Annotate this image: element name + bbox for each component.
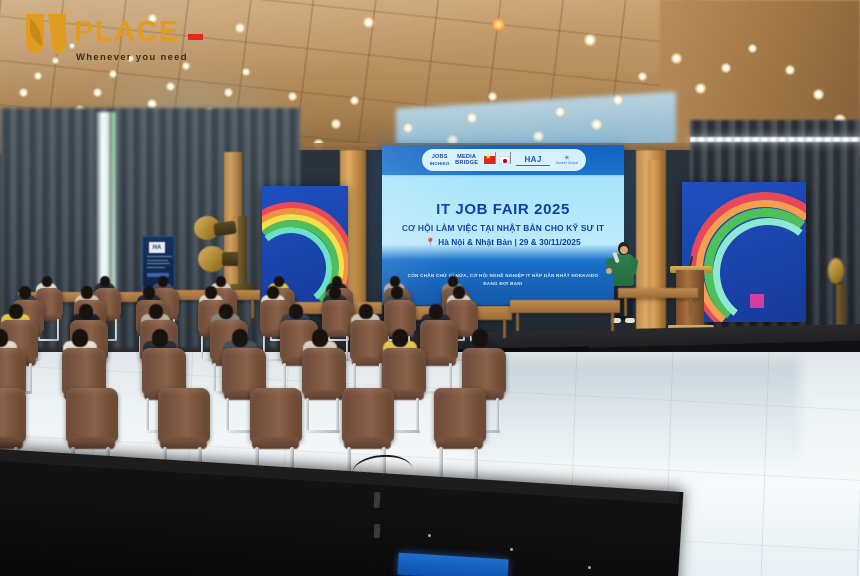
downlight-44 bbox=[695, 83, 706, 94]
chair-backrest bbox=[342, 388, 394, 442]
downlight-14 bbox=[166, 82, 175, 91]
audience-member-head bbox=[158, 276, 168, 287]
audience-chair[interactable] bbox=[434, 388, 486, 442]
chair-backrest bbox=[66, 388, 118, 442]
poster-text-lines bbox=[147, 256, 172, 270]
chair-backrest bbox=[158, 388, 210, 442]
wood-pillar-right-edge bbox=[648, 160, 664, 340]
slide-footer-text: CÒN CHẦN CHỪ GÌ NỮA, CƠ HỘI NGHỀ NGHIỆP … bbox=[401, 272, 606, 288]
downlight-8 bbox=[93, 88, 102, 97]
downlight-38 bbox=[591, 119, 602, 130]
chair-leg-rear bbox=[29, 363, 32, 392]
slide-location-text: Hà Nội & Nhật Bản | 29 & 30/11/2025 bbox=[438, 237, 580, 247]
slide-bottom-band: CÒN CHẦN CHỪ GÌ NỮA, CƠ HỘI NGHỀ NGHIỆP … bbox=[382, 263, 624, 305]
audience-member-head bbox=[152, 329, 168, 347]
camera-rig-hinge-upper bbox=[374, 492, 381, 508]
audience-member-head bbox=[9, 304, 23, 319]
audience-member-head bbox=[312, 329, 328, 347]
audience-chair[interactable] bbox=[66, 388, 118, 442]
vietnam-flag-icon bbox=[484, 151, 496, 169]
downlight-45 bbox=[721, 63, 731, 73]
audience-member-head bbox=[289, 304, 303, 319]
presenter-hand bbox=[606, 268, 612, 274]
audience-member-head bbox=[429, 304, 443, 319]
audience-member-head bbox=[205, 286, 217, 299]
conference-hall-photo: JOBS INCHIKO MEDIA BRIDGE HAJ ☀ Sunset G… bbox=[0, 0, 860, 576]
chair-leg-front bbox=[201, 336, 203, 360]
downlight-24 bbox=[288, 92, 297, 101]
downlight-48 bbox=[813, 89, 824, 100]
location-pin-icon: 📍 bbox=[425, 237, 435, 247]
poster-logo: HA bbox=[149, 242, 165, 253]
chair-backrest bbox=[434, 388, 486, 442]
chair-leg-rear bbox=[57, 319, 59, 340]
vplace-watermark: PLACE Whenever you need bbox=[22, 12, 222, 68]
horn-right-mouth bbox=[828, 258, 844, 284]
audience-member-head bbox=[72, 329, 88, 347]
watermark-red-accent bbox=[188, 34, 203, 40]
downlight-50 bbox=[363, 17, 374, 28]
chair-leg-rear bbox=[115, 319, 117, 340]
camera-rig-hinge-lower bbox=[374, 524, 381, 538]
head-table-front-right bbox=[510, 300, 620, 313]
head-table-front-right-leg-r bbox=[611, 313, 614, 331]
horn-mount-post bbox=[238, 216, 247, 286]
chair-leg-front bbox=[146, 398, 149, 432]
audience-member-head bbox=[81, 286, 93, 299]
chair-leg-rear bbox=[496, 398, 499, 432]
floor-reflection bbox=[470, 360, 800, 470]
downlight-39 bbox=[613, 95, 623, 105]
sunset-wordmark: Sunset Global bbox=[556, 162, 579, 165]
chair-backrest bbox=[302, 348, 346, 394]
partner-logo-haj: HAJ bbox=[516, 155, 550, 166]
chair-leg-front bbox=[213, 363, 216, 392]
downlight-31 bbox=[403, 123, 413, 133]
chair-leg-rear bbox=[346, 336, 348, 360]
head-table-right bbox=[618, 288, 698, 298]
chair-backrest bbox=[0, 388, 26, 442]
audience-member-head bbox=[219, 304, 233, 319]
audience-member-head bbox=[392, 329, 408, 347]
window-light-gap bbox=[96, 112, 112, 302]
downlight-40 bbox=[638, 72, 647, 81]
camera-rig-indicator-2 bbox=[510, 548, 513, 551]
presenter-face bbox=[620, 246, 628, 254]
head-table-center-left-leg-r bbox=[251, 300, 254, 318]
chair-leg-rear bbox=[336, 398, 339, 432]
downlight-33 bbox=[467, 113, 477, 123]
camera-rig-indicator-3 bbox=[588, 566, 591, 569]
audience-member-head bbox=[329, 286, 341, 299]
chair-leg-rail bbox=[306, 430, 340, 433]
head-table-front-right-leg-l bbox=[516, 313, 519, 331]
presenter-shoe-right bbox=[625, 318, 635, 323]
audience-chair[interactable] bbox=[158, 388, 210, 442]
downlight-46 bbox=[748, 44, 757, 53]
audience-member-head bbox=[42, 276, 52, 287]
partner-jobs-line2: INCHIKO bbox=[430, 161, 450, 166]
downlight-47 bbox=[785, 65, 795, 75]
downlight-43 bbox=[671, 53, 682, 64]
haj-rule bbox=[516, 165, 550, 166]
haj-wordmark: HAJ bbox=[516, 155, 550, 164]
audience-member-head bbox=[453, 286, 465, 299]
led-strip-light bbox=[690, 137, 860, 142]
japan-flag-icon bbox=[499, 151, 511, 169]
head-table-right-leg-l bbox=[624, 298, 627, 316]
downlight-41 bbox=[492, 18, 505, 31]
watermark-brand: PLACE bbox=[74, 18, 180, 47]
audience-member-head bbox=[274, 276, 284, 287]
head-table-right-leg-r bbox=[689, 298, 692, 316]
audience-member-head bbox=[391, 286, 403, 299]
camera-rig-indicator-1 bbox=[428, 534, 431, 537]
partner-mb-line2: BRIDGE bbox=[455, 160, 478, 166]
slide-title: IT JOB FAIR 2025 bbox=[382, 201, 624, 218]
presentation-screen: JOBS INCHIKO MEDIA BRIDGE HAJ ☀ Sunset G… bbox=[382, 145, 624, 305]
partner-logo-sunset: ☀ Sunset Global bbox=[556, 155, 579, 165]
audience-member-head bbox=[232, 329, 248, 347]
audience-member-head bbox=[472, 329, 488, 347]
partner-logo-mediabridge: MEDIA BRIDGE bbox=[455, 154, 478, 167]
audience-member-head bbox=[100, 276, 110, 287]
audience-chair[interactable] bbox=[0, 388, 26, 442]
v-logo-mark-icon bbox=[22, 12, 74, 56]
chair-leg-rear bbox=[416, 398, 419, 432]
partner-flags bbox=[484, 151, 511, 169]
downlight-19 bbox=[224, 88, 233, 97]
chair-leg-front bbox=[306, 398, 309, 432]
audience-member-head bbox=[359, 304, 373, 319]
downlight-3 bbox=[34, 72, 42, 80]
downlight-27 bbox=[331, 119, 341, 129]
watermark-tagline: Whenever you need bbox=[76, 52, 188, 63]
downlight-9 bbox=[109, 70, 117, 78]
audience-member-head bbox=[149, 304, 163, 319]
audience-chair[interactable] bbox=[250, 388, 302, 442]
downlight-34 bbox=[488, 92, 497, 101]
downlight-28 bbox=[350, 96, 359, 105]
downlight-42 bbox=[584, 34, 596, 46]
downlight-36 bbox=[533, 131, 544, 142]
downlight-2 bbox=[19, 88, 28, 97]
downlight-51 bbox=[235, 23, 245, 33]
partner-logo-row: JOBS INCHIKO MEDIA BRIDGE HAJ ☀ Sunset G… bbox=[422, 149, 586, 171]
audience-member-head bbox=[216, 276, 226, 287]
head-table-front-center-leg-r bbox=[503, 320, 506, 338]
pink-square-right bbox=[750, 294, 764, 308]
audience-member-head bbox=[19, 286, 31, 299]
audience-chair[interactable] bbox=[342, 388, 394, 442]
chair-backrest bbox=[250, 388, 302, 442]
chair-leg-rail bbox=[38, 339, 59, 341]
downlight-37 bbox=[555, 107, 565, 117]
audience-member-head bbox=[143, 286, 155, 299]
chair-leg-front bbox=[226, 398, 229, 432]
chair-seat bbox=[0, 437, 23, 449]
slide-subtitle: CƠ HỘI LÀM VIỆC TẠI NHẬT BẢN CHO KỸ SƯ I… bbox=[382, 223, 624, 233]
audience-chair[interactable] bbox=[302, 348, 346, 394]
audience-member-head bbox=[79, 304, 93, 319]
slide-location-line: 📍 Hà Nội & Nhật Bản | 29 & 30/11/2025 bbox=[382, 237, 624, 248]
downlight-20 bbox=[242, 68, 250, 76]
audience-member-head bbox=[267, 286, 279, 299]
partner-logo-jobs: JOBS INCHIKO bbox=[430, 154, 450, 165]
window-green-edge bbox=[111, 112, 116, 302]
